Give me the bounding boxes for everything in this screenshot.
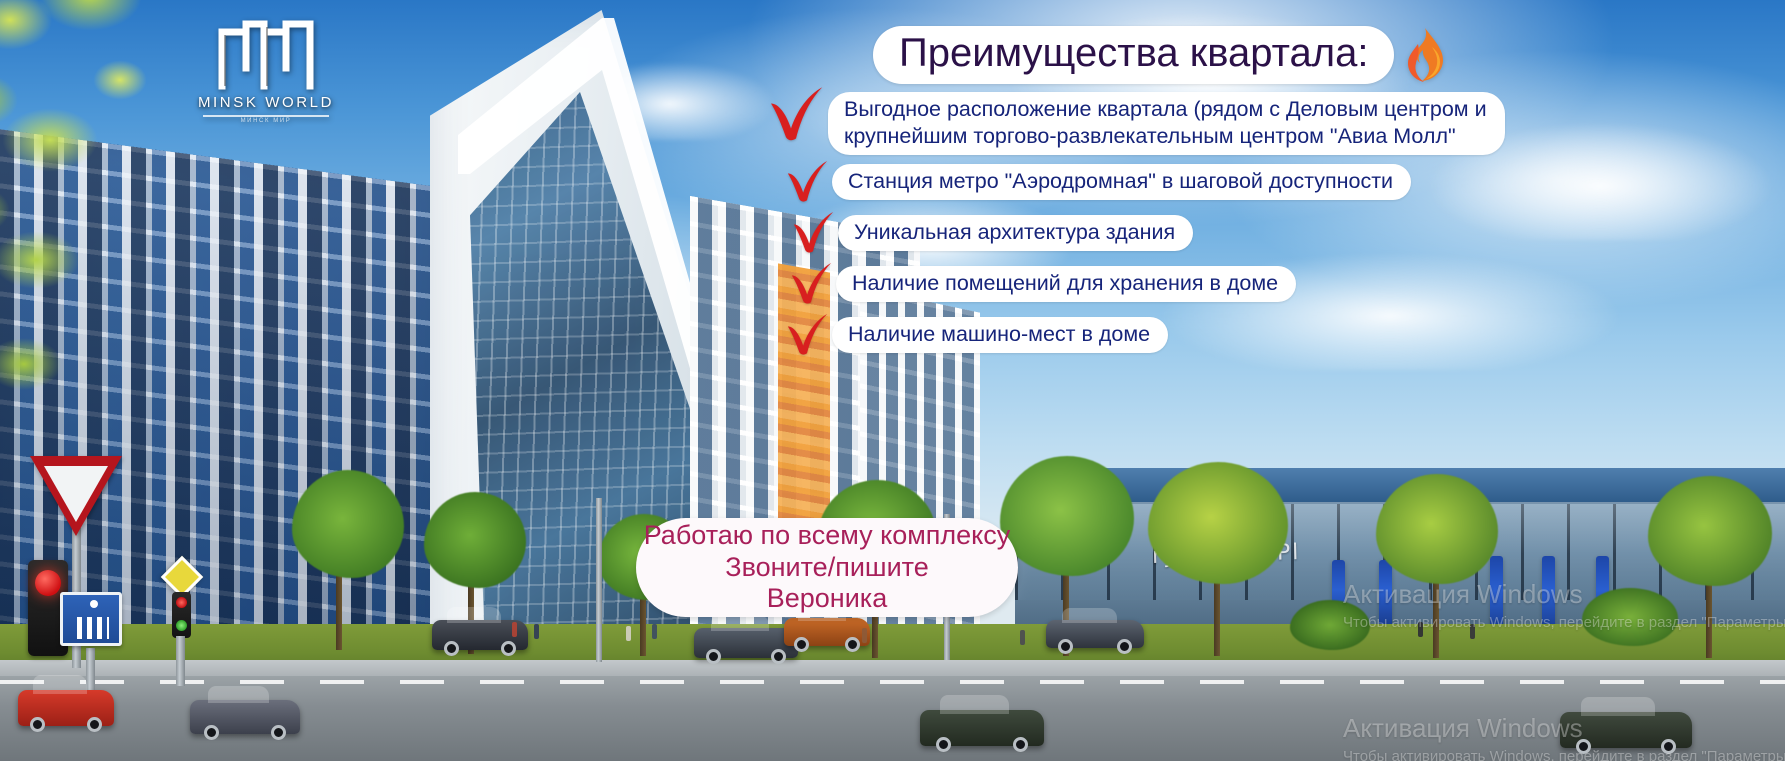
contact-line-3: Вероника <box>767 583 887 615</box>
logo-subtitle: МИНСК МИР <box>196 118 336 124</box>
minsk-world-logo: MINSK WORLD МИНСК МИР <box>196 18 336 124</box>
parked-car <box>18 690 114 726</box>
title-block: Преимущества квартала: <box>873 26 1446 84</box>
check-icon <box>784 313 830 359</box>
pedestrian <box>1418 622 1423 637</box>
check-icon <box>784 160 830 206</box>
moving-car <box>920 710 1044 746</box>
promo-image-canvas: ry Planet Pl <box>0 0 1785 761</box>
flame-icon <box>1402 27 1446 83</box>
sign-pole <box>176 636 185 686</box>
pedestrian <box>512 622 517 637</box>
list-item-text: Наличие машино-мест в доме <box>832 317 1168 353</box>
benefit-line-2: крупнейшим торгово-развлекательным центр… <box>844 123 1487 150</box>
check-icon <box>790 211 836 257</box>
list-item-text: Выгодное расположение квартала (рядом с … <box>828 92 1505 155</box>
list-item: Наличие машино-мест в доме <box>784 317 1776 359</box>
yield-road-sign <box>30 456 122 536</box>
moving-car <box>1046 620 1144 648</box>
pedestrian <box>1470 624 1475 639</box>
list-item-text: Станция метро "Аэродромная" в шаговой до… <box>832 164 1411 200</box>
contact-card: Работаю по всему комплексу Звоните/пишит… <box>636 518 1018 617</box>
mall-flag <box>1379 560 1392 634</box>
pedestrian <box>652 624 657 639</box>
lamp-post <box>596 498 602 662</box>
pedestrian <box>1020 630 1025 645</box>
moving-car <box>694 628 798 658</box>
mw-monogram-icon <box>206 18 326 90</box>
list-item-text: Уникальная архитектура здания <box>838 215 1193 251</box>
list-item: Выгодное расположение квартала (рядом с … <box>766 92 1776 155</box>
pedestrian-crossing-sign <box>60 592 122 646</box>
tree <box>1648 476 1772 586</box>
moving-car <box>784 618 870 646</box>
shrub <box>1582 588 1678 646</box>
benefits-list: Выгодное расположение квартала (рядом с … <box>766 92 1776 368</box>
tree <box>1376 474 1498 584</box>
benefit-line-1: Выгодное расположение квартала (рядом с … <box>844 97 1487 121</box>
contact-line-2: Звоните/пишите <box>725 552 928 584</box>
pedestrian <box>862 628 867 643</box>
logo-name: MINSK WORLD <box>196 94 336 111</box>
sign-pole <box>86 648 95 696</box>
tree <box>292 470 404 578</box>
list-item: Станция метро "Аэродромная" в шаговой до… <box>784 164 1776 206</box>
tree <box>424 492 526 588</box>
pedestrian <box>626 626 631 641</box>
pedestrian <box>534 624 539 639</box>
moving-car <box>1560 712 1692 748</box>
shrub <box>1290 600 1370 650</box>
tree <box>1148 462 1288 584</box>
tree <box>1000 456 1134 576</box>
check-icon <box>766 86 826 146</box>
parked-car <box>190 700 300 734</box>
contact-line-1: Работаю по всему комплексу <box>644 520 1011 552</box>
list-item-text: Наличие помещений для хранения в доме <box>836 266 1296 302</box>
page-title: Преимущества квартала: <box>873 26 1394 84</box>
check-icon <box>788 262 834 308</box>
traffic-light-red-lamp <box>35 570 61 596</box>
list-item: Наличие помещений для хранения в доме <box>788 266 1776 308</box>
list-item: Уникальная архитектура здания <box>790 215 1776 257</box>
pedestrian-traffic-light <box>172 592 191 638</box>
logo-divider <box>203 115 329 117</box>
